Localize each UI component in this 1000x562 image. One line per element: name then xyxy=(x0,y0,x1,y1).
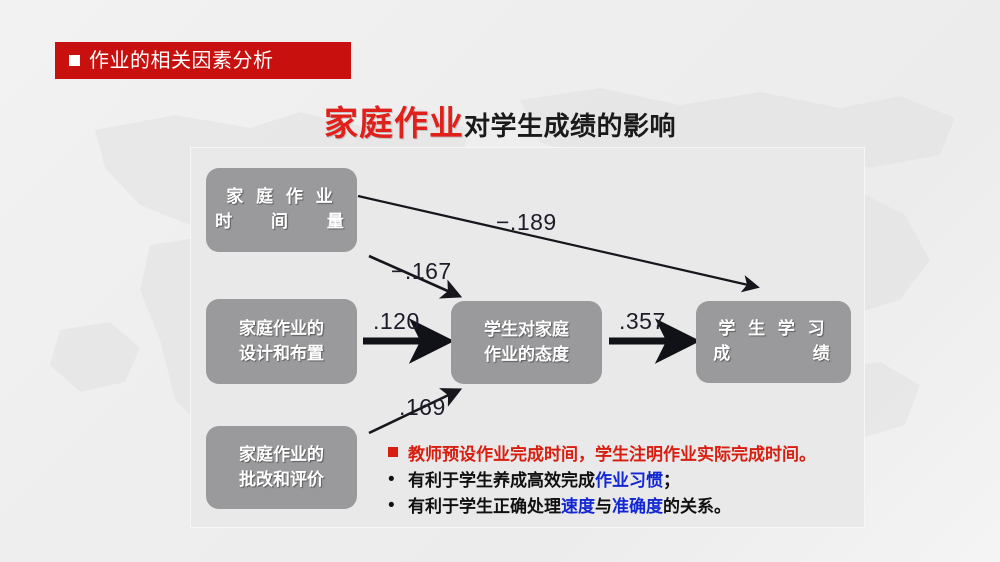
node-homework-review-line2: 批改和评价 xyxy=(239,468,324,493)
square-bullet-icon xyxy=(388,444,408,464)
node-student-score-line2: 成 绩 xyxy=(713,342,834,367)
note-segment: 与 xyxy=(595,497,612,516)
note-text: 有利于学生养成高效完成作业习惯； xyxy=(408,470,680,492)
note-text: 有利于学生正确处理速度与准确度的关系。 xyxy=(408,496,731,518)
note-segment: 有利于学生养成高效完成 xyxy=(408,471,595,490)
node-homework-time: 家 庭 作 业 时 间 量 xyxy=(206,168,357,252)
node-homework-review: 家庭作业的 批改和评价 xyxy=(206,426,357,509)
node-homework-review-line1: 家庭作业的 xyxy=(239,443,324,468)
page-title-highlight: 家庭作业 xyxy=(324,105,464,143)
coefficient-time-to-attitude: −.167 xyxy=(391,258,452,285)
node-homework-design-line1: 家庭作业的 xyxy=(239,317,324,342)
coefficient-review-to-attitude: .169 xyxy=(399,394,446,421)
coefficient-attitude-to-score: .357 xyxy=(619,308,666,335)
note-segment-highlight: 作业习惯 xyxy=(595,471,663,490)
node-homework-time-line1: 家 庭 作 业 xyxy=(226,185,336,210)
page-title: 家庭作业对学生成绩的影响 xyxy=(0,96,1000,145)
square-bullet-icon xyxy=(69,55,80,66)
note-segment-highlight: 准确度 xyxy=(612,497,663,516)
node-homework-time-line2: 时 间 量 xyxy=(215,210,348,235)
section-banner: 作业的相关因素分析 xyxy=(55,42,351,79)
node-student-attitude-line1: 学生对家庭 xyxy=(484,318,569,343)
note-segment: 的关系。 xyxy=(663,497,731,516)
page-title-rest: 对学生成绩的影响 xyxy=(464,111,676,141)
coefficient-time-to-score: −.189 xyxy=(496,209,557,236)
section-banner-label: 作业的相关因素分析 xyxy=(89,51,274,71)
node-homework-design-line2: 设计和布置 xyxy=(239,342,324,367)
note-text: 教师预设作业完成时间，学生注明作业实际完成时间。 xyxy=(408,444,816,466)
notes-block: 教师预设作业完成时间，学生注明作业实际完成时间。 • 有利于学生养成高效完成作业… xyxy=(388,444,853,522)
note-segment: 有利于学生正确处理 xyxy=(408,497,561,516)
slide-canvas: 作业的相关因素分析 家庭作业对学生成绩的影响 xyxy=(0,0,1000,562)
node-homework-design: 家庭作业的 设计和布置 xyxy=(206,299,357,384)
node-student-attitude: 学生对家庭 作业的态度 xyxy=(451,301,602,384)
note-item: • 有利于学生养成高效完成作业习惯； xyxy=(388,470,853,492)
node-student-score-line1: 学 生 学 习 xyxy=(718,317,828,342)
dot-bullet-icon: • xyxy=(388,496,408,517)
path-diagram-panel: 家 庭 作 业 时 间 量 家庭作业的 设计和布置 家庭作业的 批改和评价 学生… xyxy=(190,147,865,528)
node-student-attitude-line2: 作业的态度 xyxy=(484,343,569,368)
coefficient-design-to-attitude: .120 xyxy=(373,308,420,335)
note-item: • 有利于学生正确处理速度与准确度的关系。 xyxy=(388,496,853,518)
node-student-score: 学 生 学 习 成 绩 xyxy=(696,301,851,383)
note-segment: ； xyxy=(663,471,680,490)
note-item: 教师预设作业完成时间，学生注明作业实际完成时间。 xyxy=(388,444,853,466)
note-segment-highlight: 速度 xyxy=(561,497,595,516)
dot-bullet-icon: • xyxy=(388,470,408,491)
